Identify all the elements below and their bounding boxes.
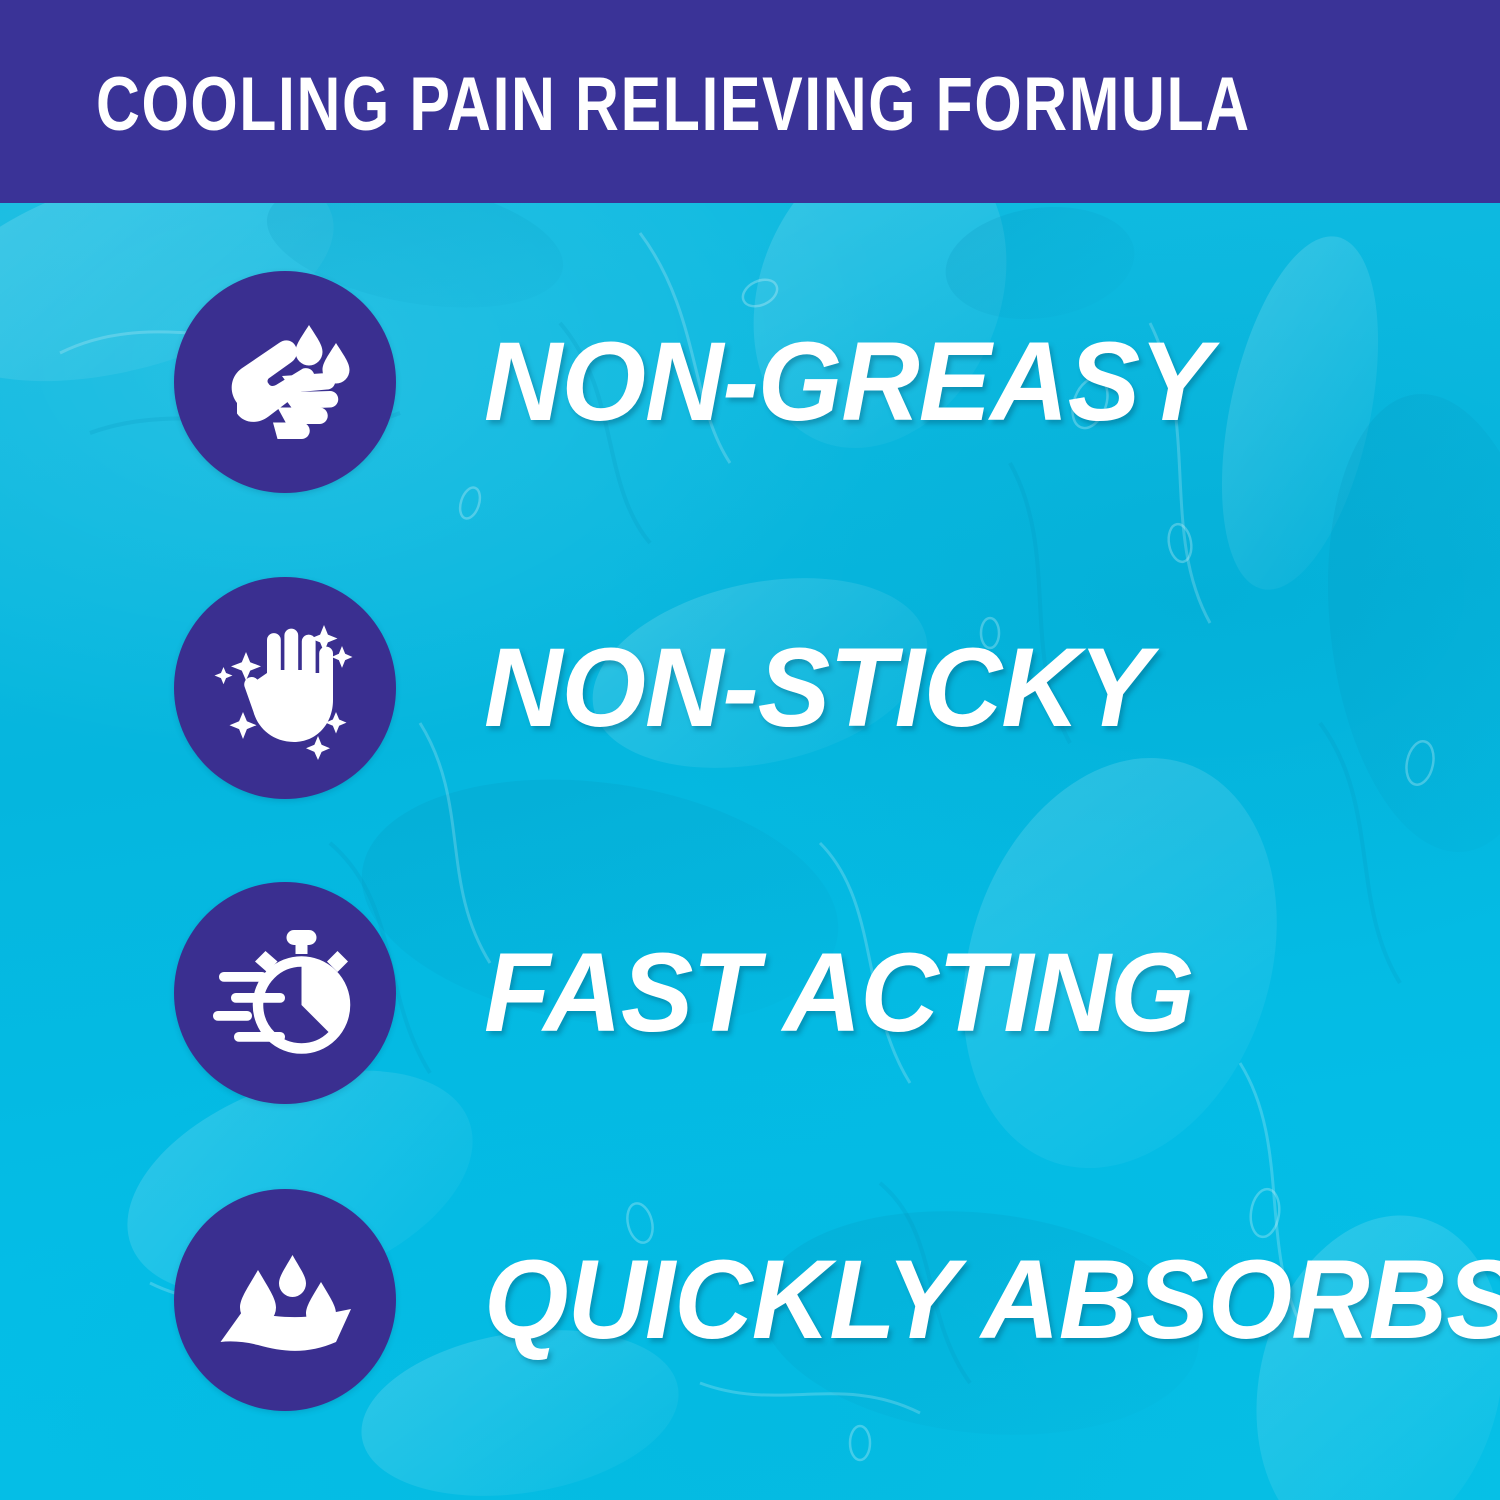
feature-label: NON-GREASY	[484, 326, 1211, 438]
hands-rubbing-with-droplets-icon	[210, 307, 360, 457]
feature-icon-badge	[174, 882, 396, 1104]
feature-list: NON-GREASY	[0, 203, 1500, 1500]
droplets-absorbing-surface-icon	[210, 1225, 360, 1375]
feature-icon-badge	[174, 1189, 396, 1411]
feature-row: QUICKLY ABSORBS	[0, 1186, 1500, 1414]
feature-row: FAST ACTING	[0, 879, 1500, 1107]
header-banner: COOLING PAIN RELIEVING FORMULA	[0, 0, 1500, 203]
stopwatch-speed-lines-icon	[210, 918, 360, 1068]
feature-label: NON-STICKY	[484, 632, 1150, 744]
product-feature-poster: COOLING PAIN RELIEVING FORMULA	[0, 0, 1500, 1500]
feature-icon-badge	[174, 271, 396, 493]
feature-row: NON-GREASY	[0, 268, 1500, 496]
feature-icon-badge	[174, 577, 396, 799]
feature-row: NON-STICKY	[0, 574, 1500, 802]
feature-label: QUICKLY ABSORBS	[484, 1244, 1500, 1356]
clean-hand-sparkles-icon	[210, 613, 360, 763]
page-title: COOLING PAIN RELIEVING FORMULA	[96, 61, 1251, 143]
feature-label: FAST ACTING	[484, 937, 1194, 1049]
